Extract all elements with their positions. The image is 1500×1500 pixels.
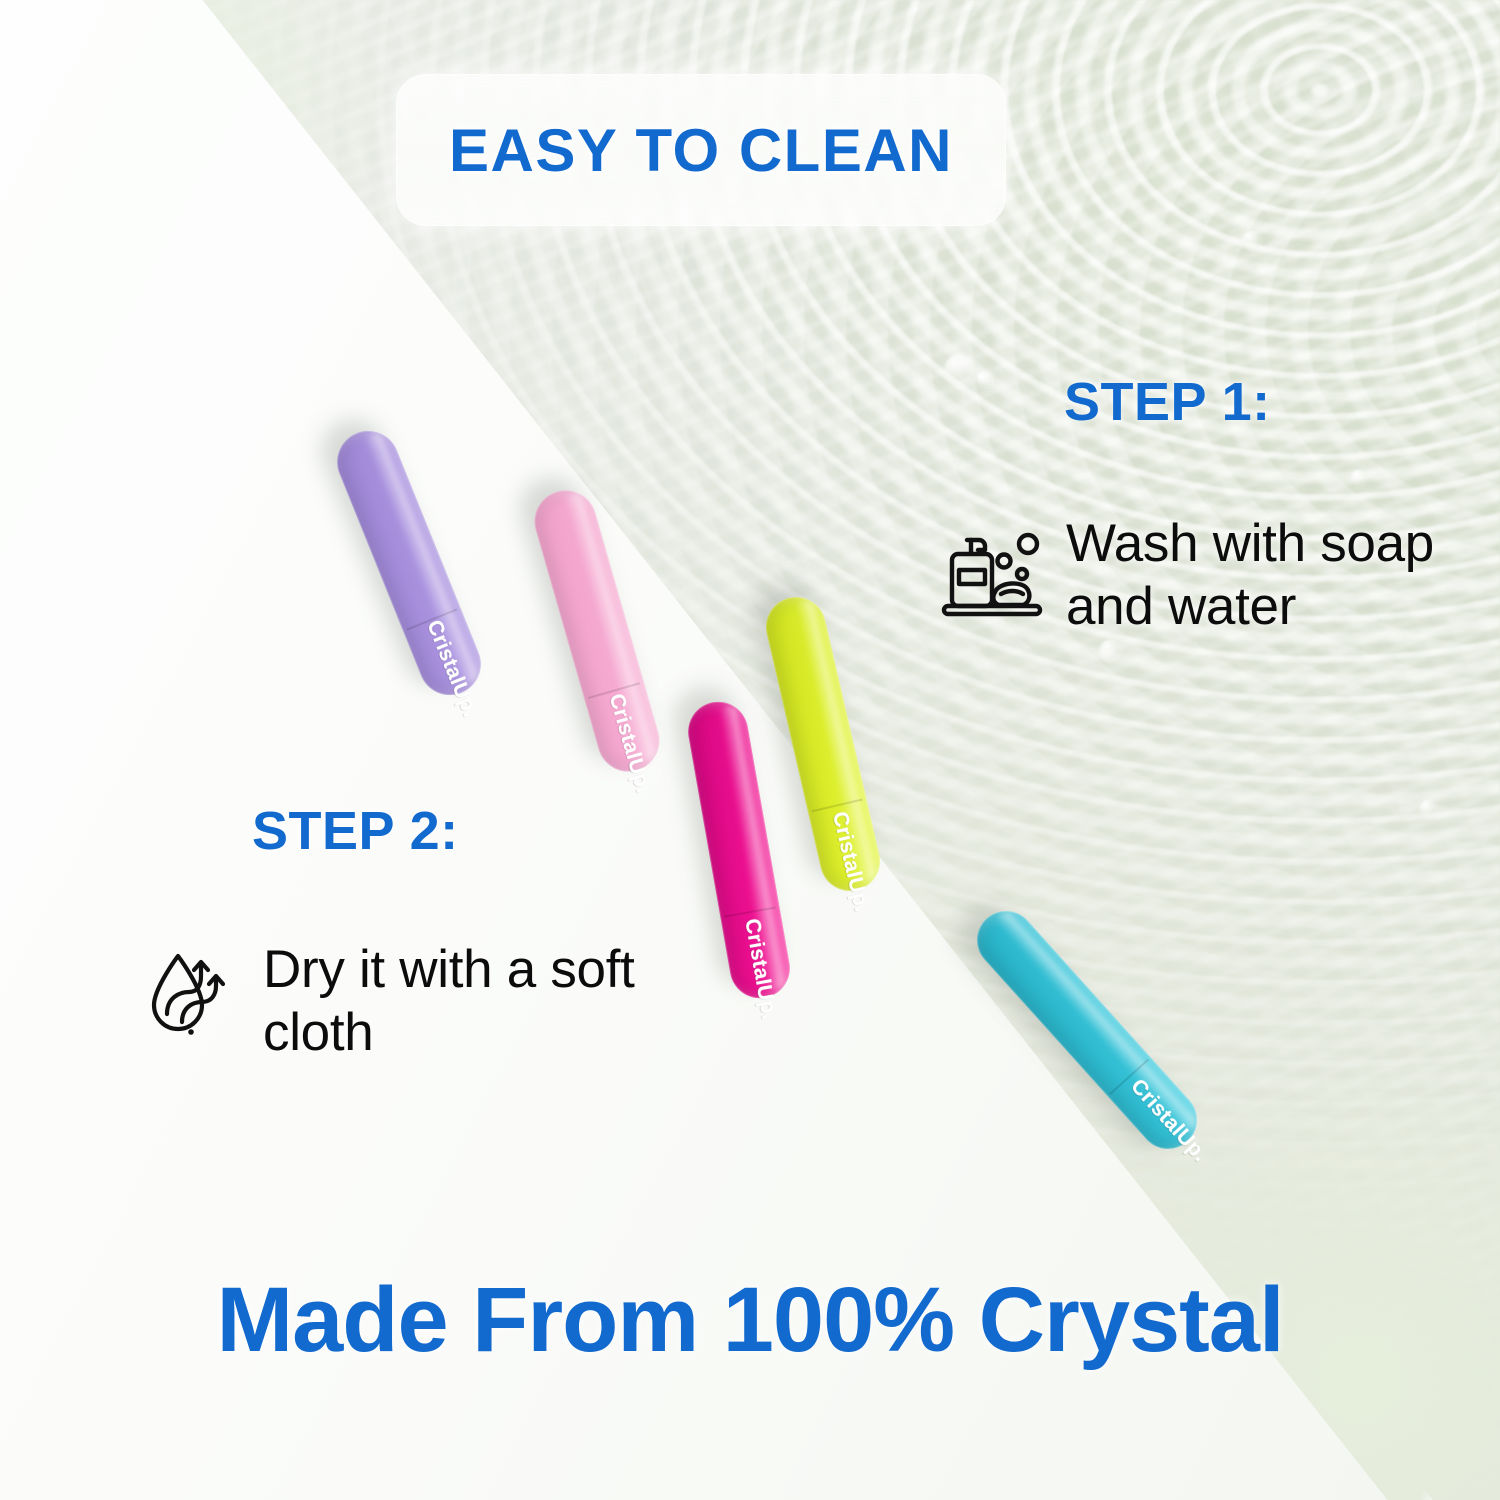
water-drop-evaporation-icon <box>145 944 241 1044</box>
easy-to-clean-badge: EASY TO CLEAN <box>396 74 1006 226</box>
footer-headline-part2: 100% Crystal <box>723 1269 1284 1371</box>
footer-headline: Made From 100% Crystal <box>0 1268 1500 1373</box>
step-1-text: Wash with soap and water <box>1066 512 1460 638</box>
step-1-heading: STEP 1: <box>1064 371 1271 433</box>
footer-headline-part1: Made From <box>216 1269 722 1371</box>
step-2-heading: STEP 2: <box>252 800 459 862</box>
step-2-block: Dry it with a soft cloth <box>145 938 675 1064</box>
step-2-text: Dry it with a soft cloth <box>263 938 675 1064</box>
badge-title: EASY TO CLEAN <box>449 116 953 185</box>
soap-dispenser-icon <box>940 524 1044 620</box>
infographic-canvas: CristalUp. CristalUp. CristalUp. Cristal… <box>0 0 1500 1500</box>
step-1-block: Wash with soap and water <box>940 512 1460 638</box>
